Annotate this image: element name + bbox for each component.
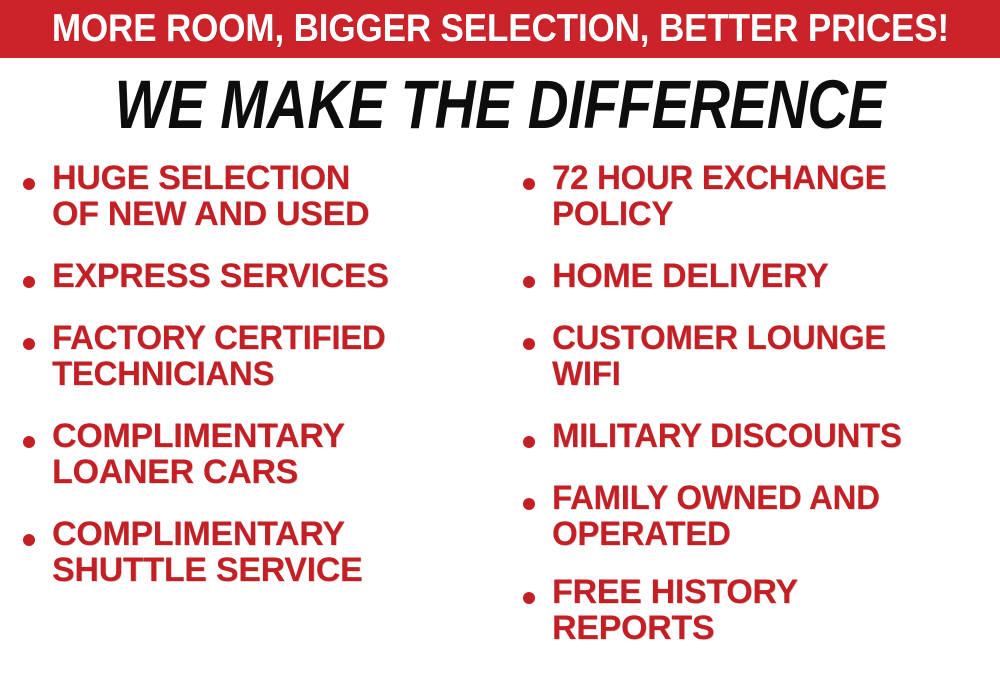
benefit-label: FREE HISTORY REPORTS xyxy=(552,574,1000,646)
bullet-dot-icon xyxy=(523,276,535,288)
benefit-item: MILITARY DISCOUNTS xyxy=(514,418,1000,454)
benefits-left-column: HUGE SELECTION OF NEW AND USED EXPRESS S… xyxy=(14,160,506,610)
benefit-label: CUSTOMER LOUNGE WIFI xyxy=(552,320,886,392)
main-headline: WE MAKE THE DIFFERENCE xyxy=(0,70,1000,139)
benefit-label: HUGE SELECTION OF NEW AND USED xyxy=(52,160,506,232)
benefit-item: COMPLIMENTARY SHUTTLE SERVICE xyxy=(14,516,506,588)
benefit-item: COMPLIMENTARY LOANER CARS xyxy=(14,418,506,490)
bullet-dot-icon xyxy=(523,178,535,190)
bullet-dot-icon xyxy=(523,498,535,510)
benefit-label: HOME DELIVERY xyxy=(552,258,1000,294)
benefit-label: FACTORY CERTIFIED TECHNICIANS xyxy=(52,320,385,392)
bullet-dot-icon xyxy=(23,276,35,288)
bullet-dot-icon xyxy=(23,534,35,546)
benefit-item: CUSTOMER LOUNGE WIFI xyxy=(514,320,1000,392)
benefit-label: MILITARY DISCOUNTS xyxy=(552,418,902,454)
benefit-label: FAMILY OWNED AND OPERATED xyxy=(552,480,880,552)
bullet-dot-icon xyxy=(523,338,535,350)
bullet-dot-icon xyxy=(23,436,35,448)
benefits-right-column: 72 HOUR EXCHANGE POLICY HOME DELIVERY CU… xyxy=(514,160,1000,668)
bullet-dot-icon xyxy=(523,592,535,604)
benefit-item: 72 HOUR EXCHANGE POLICY xyxy=(514,160,1000,232)
benefit-label: COMPLIMENTARY LOANER CARS xyxy=(52,418,506,490)
benefit-item: FACTORY CERTIFIED TECHNICIANS xyxy=(14,320,506,392)
bullet-dot-icon xyxy=(23,338,35,350)
benefit-item: HOME DELIVERY xyxy=(514,258,1000,294)
bullet-dot-icon xyxy=(23,178,35,190)
bullet-dot-icon xyxy=(523,436,535,448)
benefit-label: COMPLIMENTARY SHUTTLE SERVICE xyxy=(52,516,506,588)
top-banner: MORE ROOM, BIGGER SELECTION, BETTER PRIC… xyxy=(0,0,1000,58)
benefit-item: EXPRESS SERVICES xyxy=(14,258,506,294)
advertisement-sign: MORE ROOM, BIGGER SELECTION, BETTER PRIC… xyxy=(0,0,1000,694)
benefit-label: EXPRESS SERVICES xyxy=(52,258,506,294)
benefit-label: 72 HOUR EXCHANGE POLICY xyxy=(552,160,886,232)
benefit-item: HUGE SELECTION OF NEW AND USED xyxy=(14,160,506,232)
benefit-item: FAMILY OWNED AND OPERATED xyxy=(514,480,1000,552)
headline-text: WE MAKE THE DIFFERENCE xyxy=(115,70,886,139)
banner-headline-text: MORE ROOM, BIGGER SELECTION, BETTER PRIC… xyxy=(51,9,948,50)
benefit-item: FREE HISTORY REPORTS xyxy=(514,574,1000,646)
benefits-columns: HUGE SELECTION OF NEW AND USED EXPRESS S… xyxy=(0,160,1000,694)
